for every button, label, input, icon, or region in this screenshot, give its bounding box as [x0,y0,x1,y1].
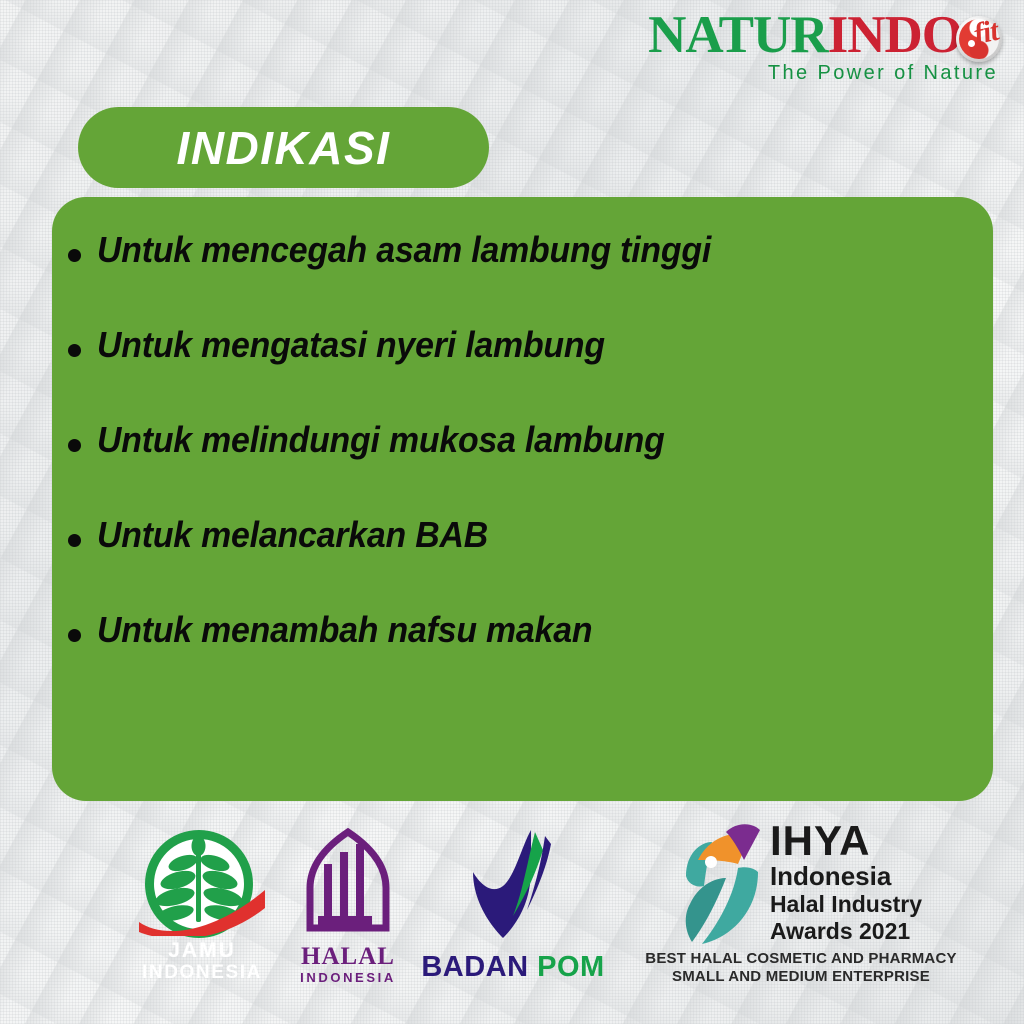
logo-ihya-awards: IHYA Indonesia Halal Industry Awards 202… [636,820,966,986]
list-item-label: Untuk melancarkan BAB [97,512,488,558]
ihya-top-row: IHYA Indonesia Halal Industry Awards 202… [636,820,966,945]
badan-pom-mark-icon [457,824,569,942]
list-item: Untuk mengatasi nyeri lambung [68,322,953,417]
jamu-mark-icon [137,830,267,938]
halal-mark-icon [300,828,396,938]
logo-jamu-indonesia: JAMU INDONESIA [122,830,282,983]
list-item: Untuk melancarkan BAB [68,512,953,607]
list-item-label: Untuk melindungi mukosa lambung [97,417,665,463]
pom-label: POM [537,951,605,983]
section-title-label: INDIKASI [177,125,391,171]
ihya-line4: Awards 2021 [770,918,922,945]
halal-label-line2: INDONESIA [288,970,408,986]
jamu-label-line2: INDONESIA [122,962,282,983]
ihya-line2: Indonesia [770,862,922,891]
section-title-pill: INDIKASI [78,107,489,188]
indications-panel: Untuk mencegah asam lambung tinggi Untuk… [52,197,993,801]
bullet-dot-icon [68,344,81,357]
list-item-label: Untuk mengatasi nyeri lambung [97,322,605,368]
brand-logo: NATURINDO fit The Power of Nature [648,6,1002,85]
brand-tagline: The Power of Nature [648,62,1002,85]
jamu-label-line1: JAMU [122,940,282,962]
bullet-dot-icon [68,629,81,642]
bullet-dot-icon [68,249,81,262]
list-item: Untuk mencegah asam lambung tinggi [68,227,953,322]
poster-canvas: NATURINDO fit The Power of Nature INDIKA… [0,0,1024,1024]
ihya-caption: BEST HALAL COSMETIC AND PHARMACY SMALL A… [636,950,966,986]
badan-label: BADAN [421,951,528,983]
brand-wordmark: NATURINDO fit [648,6,1002,64]
list-item: Untuk menambah nafsu makan [68,607,953,702]
logo-badan-pom: BADAN POM [418,824,608,983]
bullet-dot-icon [68,534,81,547]
ihya-title: IHYA [770,820,922,862]
brand-name-part1: NATUR [648,6,828,64]
list-item-label: Untuk menambah nafsu makan [97,607,592,653]
ihya-caption-line1: BEST HALAL COSMETIC AND PHARMACY [636,950,966,968]
certification-logos: JAMU INDONESIA HALAL INDONESIA [0,812,1024,1024]
list-item: Untuk melindungi mukosa lambung [68,417,953,512]
jamu-swoosh-icon [137,884,267,936]
bullet-dot-icon [68,439,81,452]
brand-name-part2: INDO [828,6,962,64]
indications-list: Untuk mencegah asam lambung tinggi Untuk… [68,227,953,702]
ihya-line3: Halal Industry [770,891,922,918]
ihya-caption-line2: SMALL AND MEDIUM ENTERPRISE [636,968,966,986]
badan-pom-label: BADAN POM [418,951,608,983]
ihya-mark-icon [680,820,766,945]
list-item-label: Untuk mencegah asam lambung tinggi [97,227,711,273]
ihya-text-block: IHYA Indonesia Halal Industry Awards 202… [770,820,922,945]
logo-halal-indonesia: HALAL INDONESIA [288,828,408,986]
halal-label-line1: HALAL [288,943,408,970]
